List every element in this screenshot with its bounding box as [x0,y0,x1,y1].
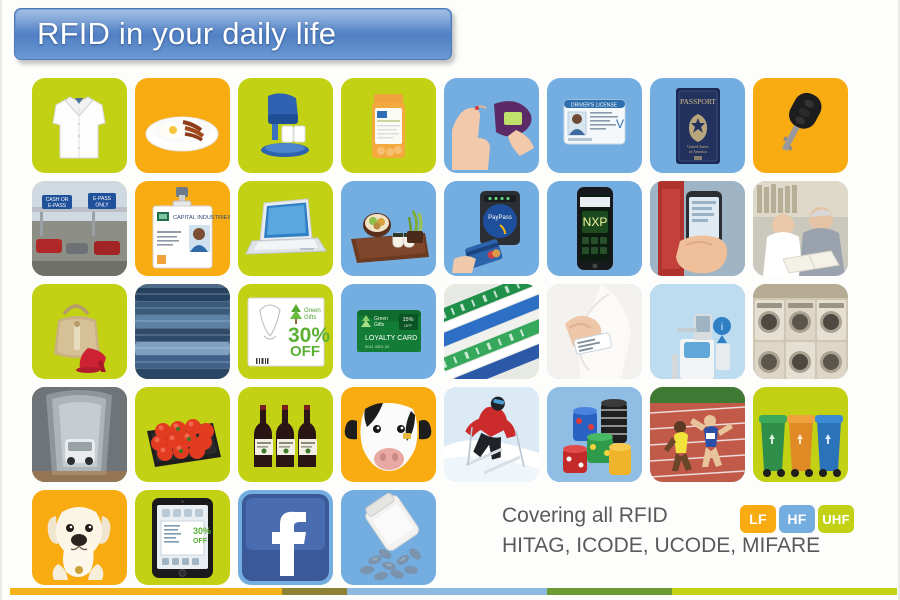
svg-text:OFF: OFF [290,343,320,360]
svg-text:0011 4501 22: 0011 4501 22 [365,344,390,349]
svg-text:V: V [616,117,624,131]
title-banner: RFID in your daily life [14,8,452,60]
svg-text:OFF: OFF [404,323,413,328]
svg-text:Gifts: Gifts [374,322,385,328]
tile-library-readers [753,181,848,276]
tile-retail-shelf-products [444,284,539,379]
page-title: RFID in your daily life [37,16,336,52]
rule-segment-orange [10,588,282,595]
badge-lf: LF [740,505,776,533]
rule-segment-light-blue [347,588,547,595]
tile-spilled-pill-bottle [341,490,436,585]
tile-toll-booth-e-pass: CASH OR E-PASS E-PASS ONLY [32,181,127,276]
tile-casino-chips [547,387,642,482]
svg-text:Gifts: Gifts [304,315,316,321]
tile-wine-bottles [238,387,333,482]
svg-text:LOYALTY CARD: LOYALTY CARD [365,335,417,342]
tile-glucose-meter-finger [444,78,539,173]
frequency-badge-group: LF HF UHF [740,505,854,533]
tile-car-wash-tunnel [32,387,127,482]
rule-segment-dark-green [547,588,672,595]
tile-passport-booklet: PASSPORT United States of America [650,78,745,173]
tile-employee-id-badge: CAPITAL INDUSTRIES [135,181,230,276]
svg-text:OFF: OFF [193,538,208,545]
tile-laundromat-washers [753,284,848,379]
svg-text:Green: Green [304,308,321,314]
tile-store-promo-sign-30-off: Green Gifts 30% OFF [238,284,333,379]
svg-text:PASSPORT: PASSPORT [680,97,716,106]
tile-puppy [32,490,127,585]
tile-phone-tap-reader [650,181,745,276]
tile-recycling-wheelie-bins [753,387,848,482]
svg-text:ONLY: ONLY [95,203,109,209]
tile-nfc-smartphone: NXP [547,181,642,276]
svg-text:E-PASS: E-PASS [48,203,67,209]
tile-runners-on-track [650,387,745,482]
tile-skier [444,387,539,482]
tile-breakfast-plate-eggs-bacon [135,78,230,173]
svg-text:NXP: NXP [583,215,608,229]
tile-tablet-device: 30% OFF [135,490,230,585]
svg-text:i: i [721,322,723,333]
svg-text:PayPass: PayPass [488,215,512,221]
tile-laptop-computer [238,181,333,276]
tile-contactless-payment-terminal: PayPass [444,181,539,276]
svg-text:CAPITAL INDUSTRIES: CAPITAL INDUSTRIES [173,215,230,221]
svg-text:E-PASS: E-PASS [93,196,112,202]
tile-dairy-cow [341,387,436,482]
badge-hf: HF [779,505,815,533]
badge-uhf: UHF [818,505,854,533]
tile-car-key-fob [753,78,848,173]
tile-coffee-pod-machine [238,78,333,173]
svg-text:DRIVER'S LICENSE: DRIVER'S LICENSE [571,103,618,109]
tile-sushi-plate [341,181,436,276]
tile-handbag-and-red-shoe [32,284,127,379]
tile-self-service-kiosk: i [650,284,745,379]
rule-segment-olive [282,588,347,595]
svg-text:of America: of America [689,149,707,154]
svg-text:30%: 30% [193,526,211,536]
tile-patient-wristband [547,284,642,379]
tile-prescription-pill-bottle [341,78,436,173]
tile-white-dress-shirt [32,78,127,173]
tile-loyalty-card: 15% OFF Green Gifts LOYALTY CARD 0011 45… [341,284,436,379]
tile-crate-of-tomatoes [135,387,230,482]
tile-stacked-jeans [135,284,230,379]
tile-facebook-logo [238,490,333,585]
bottom-color-rule [2,588,900,595]
slide-canvas: RFID in your daily life DRIVE [0,0,900,600]
rule-segment-light-green [672,588,897,595]
tile-drivers-license-card: DRIVER'S LICENSE V [547,78,642,173]
standards-line: HITAG, ICODE, UCODE, MIFARE [502,533,862,560]
